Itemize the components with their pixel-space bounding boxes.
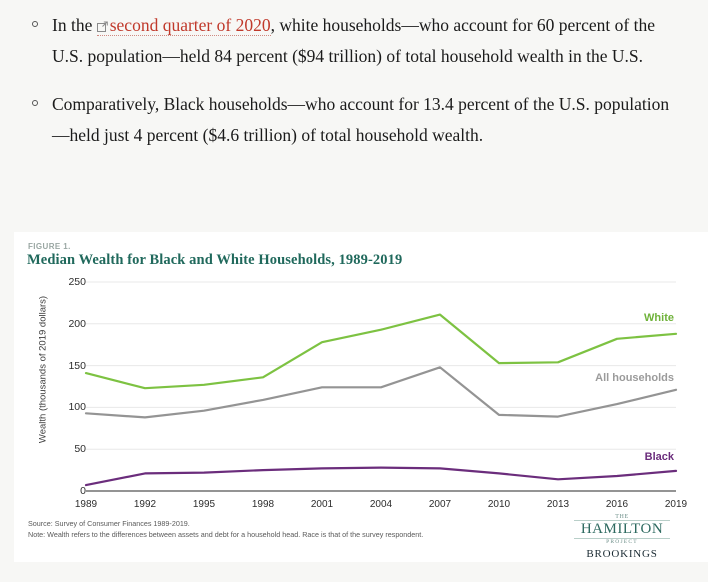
figure-source-note: Source: Survey of Consumer Finances 1989… [28, 518, 423, 540]
article-page: In the second quarter of 2020, white hou… [0, 0, 708, 582]
figure-label: FIGURE 1. [28, 242, 71, 251]
bullet-rest-text: Comparatively, Black households—who acco… [52, 94, 669, 145]
list-item: In the second quarter of 2020, white hou… [30, 10, 675, 72]
second-quarter-2020-link[interactable]: second quarter of 2020 [97, 15, 271, 36]
figure-title: Median Wealth for Black and White Househ… [27, 252, 402, 269]
hamilton-project-logo: THE HAMILTON PROJECT BROOKINGS [574, 514, 670, 560]
chart-lines-svg [14, 272, 708, 522]
series-line-black [86, 468, 676, 486]
figure-panel: FIGURE 1. Median Wealth for Black and Wh… [14, 232, 708, 562]
chart-plot-area: Wealth (thousands of 2019 dollars) 05010… [14, 272, 708, 522]
list-item: Comparatively, Black households—who acco… [30, 89, 675, 151]
figure-note: Note: Wealth refers to the differences b… [28, 529, 423, 540]
bullet-lead-text: In the [52, 15, 97, 35]
bullet-list: In the second quarter of 2020, white hou… [30, 10, 675, 168]
series-label-white: White [644, 312, 674, 324]
series-line-all-households [86, 367, 676, 417]
series-label-all-households: All households [595, 372, 674, 384]
figure-source: Source: Survey of Consumer Finances 1989… [28, 518, 423, 529]
series-line-white [86, 315, 676, 389]
bullet-marker-icon [32, 21, 38, 27]
external-link-icon [97, 21, 108, 32]
logo-hamilton-text: HAMILTON [574, 520, 670, 539]
logo-brookings-text: BROOKINGS [574, 548, 670, 560]
link-label: second quarter of 2020 [110, 15, 271, 35]
bullet-marker-icon [32, 100, 38, 106]
logo-project-text: PROJECT [574, 539, 670, 545]
series-label-black: Black [645, 451, 674, 463]
